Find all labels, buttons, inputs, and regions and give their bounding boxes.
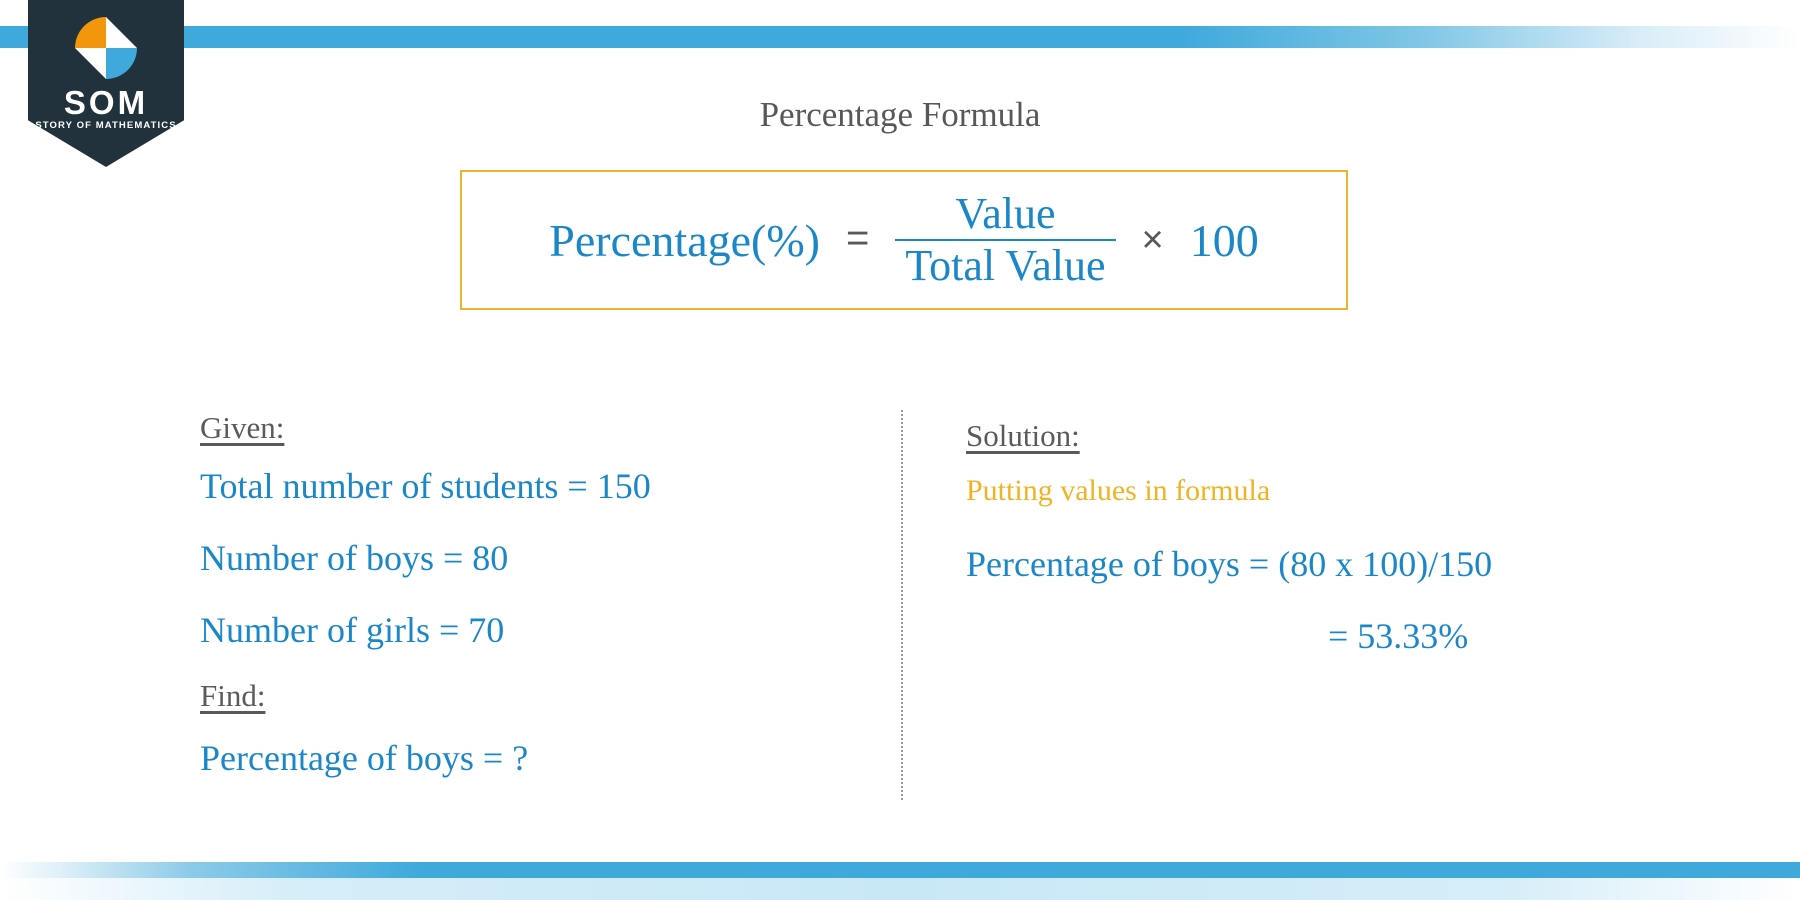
spacer <box>966 454 1726 476</box>
bottom-glow-band <box>0 878 1800 900</box>
solution-heading: Solution: <box>966 418 1080 454</box>
logo-quadrant-orange <box>75 17 106 48</box>
find-heading: Find: <box>200 678 265 714</box>
solution-step: Percentage of boys = (80 x 100)/150 <box>966 546 1726 582</box>
given-line-students: Total number of students = 150 <box>200 468 860 504</box>
logo-quadrant-blue <box>106 48 137 79</box>
formula-fraction: Value Total Value <box>895 191 1115 289</box>
solution-note: Putting values in formula <box>966 476 1726 506</box>
formula-denominator: Total Value <box>895 243 1115 289</box>
spacer <box>966 582 1726 618</box>
logo-quadrant-white-top <box>106 17 137 48</box>
spacer <box>966 506 1726 546</box>
formula-numerator: Value <box>935 191 1075 237</box>
spacer <box>200 714 860 740</box>
formula-equals-sign: = <box>846 216 869 265</box>
spacer <box>200 504 860 540</box>
brand-pennant: SOM STORY OF MATHEMATICS <box>28 0 184 167</box>
bottom-accent-bar <box>0 862 1800 878</box>
som-logo-icon <box>75 17 137 79</box>
logo-tagline: STORY OF MATHEMATICS <box>28 120 184 131</box>
formula-multiplier: 100 <box>1190 214 1259 267</box>
formula-box: Percentage(%) = Value Total Value × 100 <box>460 170 1348 310</box>
find-line: Percentage of boys = ? <box>200 740 860 776</box>
logo-quadrant-white-bottom <box>75 48 106 79</box>
solution-result: = 53.33% <box>966 618 1726 654</box>
formula-times-sign: × <box>1142 219 1164 262</box>
spacer <box>200 446 860 468</box>
logo-wordmark: SOM <box>28 84 184 122</box>
spacer <box>200 576 860 612</box>
top-accent-bar <box>0 26 1800 48</box>
solution-column: Solution: Putting values in formula Perc… <box>966 418 1726 654</box>
formula-row: Percentage(%) = Value Total Value × 100 <box>462 172 1346 308</box>
formula-lhs: Percentage(%) <box>549 214 820 267</box>
given-heading: Given: <box>200 410 284 446</box>
given-line-boys: Number of boys = 80 <box>200 540 860 576</box>
page-title: Percentage Formula <box>0 95 1800 135</box>
spacer <box>200 648 860 678</box>
column-divider <box>901 410 903 800</box>
given-line-girls: Number of girls = 70 <box>200 612 860 648</box>
given-column: Given: Total number of students = 150 Nu… <box>200 410 860 776</box>
